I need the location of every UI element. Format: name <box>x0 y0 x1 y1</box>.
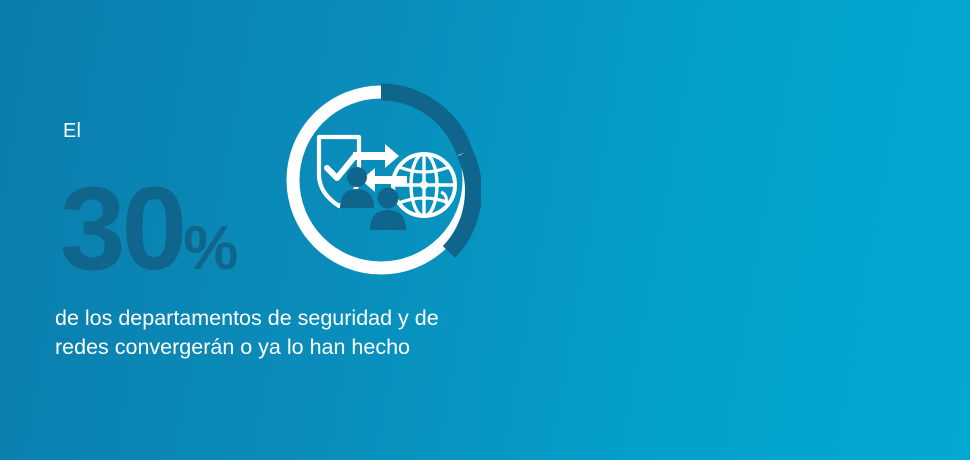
lead-label-left: El <box>63 120 81 143</box>
percentage-value-left: 30 <box>60 163 183 295</box>
stat-panel-left: El 30% de los departamentos de seguridad… <box>0 0 545 460</box>
big-percentage-left: 30% <box>60 170 236 288</box>
donut-arc-left <box>381 92 465 153</box>
globe-icon-left <box>393 154 455 216</box>
percent-symbol-left: % <box>183 214 236 283</box>
stat-panel-right: pero solo el 8% planean combinar los pre… <box>545 0 970 460</box>
caption-left: de los departamentos de seguridad y de r… <box>55 304 545 362</box>
infographic-canvas: El 30% de los departamentos de seguridad… <box>0 0 970 460</box>
donut-chart-left <box>281 80 481 280</box>
